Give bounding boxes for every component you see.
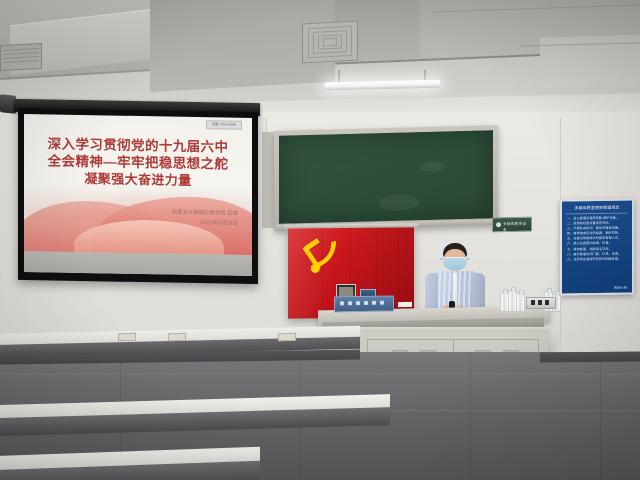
slide-date-line: 2022年3月16日 [172,218,238,229]
slide-subtitle: 阿里云大数据应用学院 吕越 2022年3月16日 [172,209,238,230]
air-vent-left-icon [0,43,42,71]
classroom-photo: 深入学习贯彻党的十九届六中 全会精神—牢牢把稳思想之舵 凝聚强大奋进力量 阿里云… [0,0,640,480]
air-vent-diffuser-icon [302,21,358,64]
blackboard-surface [279,130,493,224]
notice-board: 多媒体教室使用管理规定 一、进入教室应保持安静,爱护设备。 二、使用前检查设备是… [560,198,634,295]
notice-line: 九、违反规定者按学校有关制度处理。 [567,256,627,262]
wall-sign-logo-icon [496,222,501,227]
desk-control-panel[interactable] [334,295,394,312]
face-mask-icon [443,257,467,270]
projection-screen: 深入学习贯彻党的十九届六中 全会精神—牢牢把稳思想之舵 凝聚强大奋进力量 阿里云… [24,114,252,276]
slide-presenter-line: 阿里云大数据应用学院 吕越 [172,209,238,220]
hammer-and-sickle-icon [302,238,348,274]
wall-sign: 多媒体教学设备 [492,217,532,233]
notice-board-body: 一、进入教室应保持安静,爱护设备。 二、使用前检查设备是否完好。 三、严禁私自拆… [567,216,627,284]
water-bottle [516,293,525,312]
notice-board-signature: 教务处 制 [614,286,627,290]
wall-baseboard-right [540,351,640,362]
slide-base-band [24,251,252,276]
desk-label [278,333,296,341]
blackboard [274,125,498,231]
desk-papers [398,302,412,307]
slide-title: 深入学习贯彻党的十九届六中 全会精神—牢牢把稳思想之舵 凝聚强大奋进力量 [24,135,252,190]
wall-sign-text: 多媒体教学设备 [503,221,529,233]
desk-label [118,333,136,341]
desk-label [168,333,186,341]
microphone-receiver-icon [526,297,556,309]
notice-board-title: 多媒体教室使用管理规定 [566,205,628,215]
fluorescent-tube-light [325,80,440,91]
projector-input-label: 投影 VGA HDMI [206,120,242,130]
projection-screen-frame: 深入学习贯彻党的十九届六中 全会精神—牢牢把稳思想之舵 凝聚强大奋进力量 阿里云… [18,108,258,284]
